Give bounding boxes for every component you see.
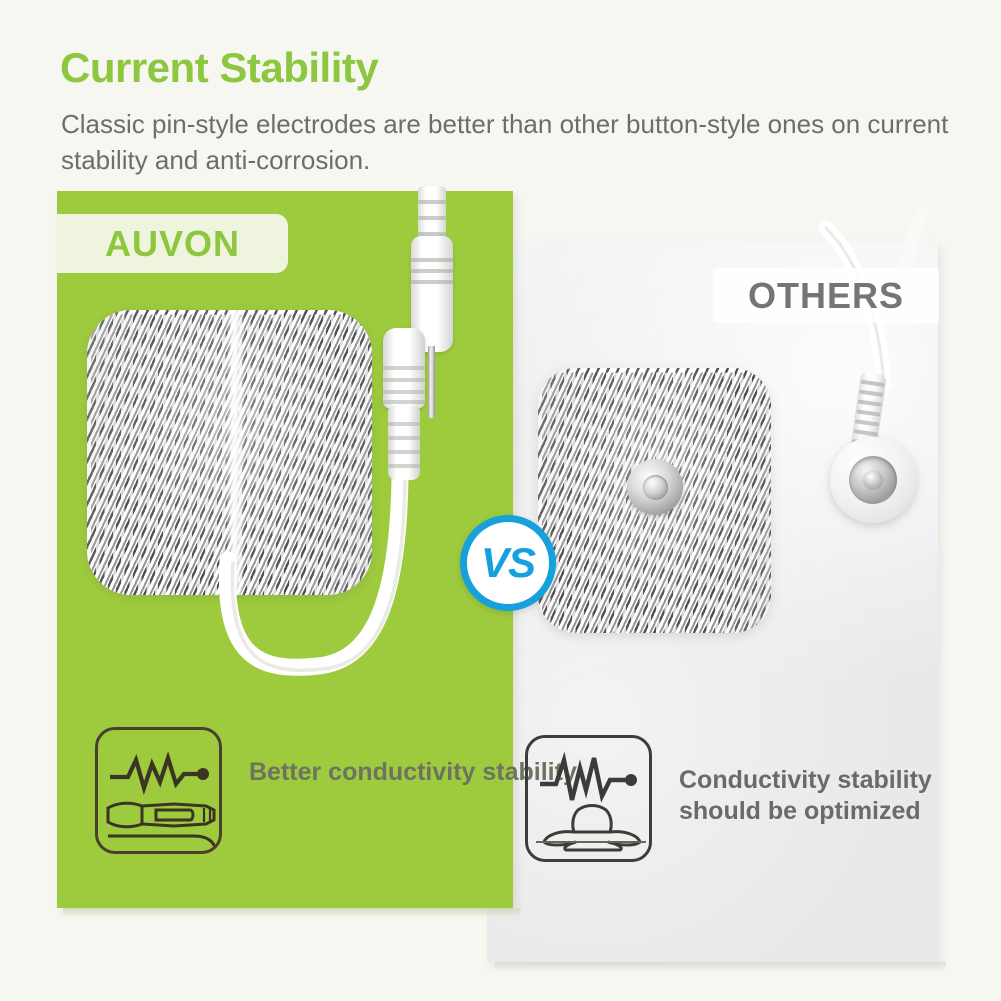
vs-badge: VS: [460, 515, 556, 611]
socket-grip: [388, 406, 420, 480]
others-electrode-pad: [538, 368, 771, 633]
waveform-snap-button-icon: [525, 735, 652, 862]
auvon-brand-text: AUVON: [105, 223, 240, 265]
metal-pin-icon: [428, 346, 435, 418]
others-brand-text: OTHERS: [748, 275, 904, 317]
auvon-socket-connector: [382, 328, 426, 480]
page-subtitle: Classic pin-style electrodes are better …: [61, 106, 951, 178]
page-title: Current Stability: [60, 44, 378, 92]
waveform-pin-connector-icon: [95, 727, 222, 854]
auvon-feature-block: Better conductivity stability: [95, 727, 577, 854]
product-comparison-image: Current Stability Classic pin-style elec…: [0, 0, 1001, 1001]
snap-socket-icon: [830, 437, 916, 523]
others-snap-connector: [822, 375, 914, 535]
auvon-brand-label: AUVON: [57, 214, 288, 273]
pad-shading: [87, 310, 372, 595]
snap-button-icon: [627, 459, 683, 515]
others-brand-label: OTHERS: [713, 268, 939, 323]
others-feature-block: Conductivity stability should be optimiz…: [525, 735, 1001, 862]
socket-head: [383, 328, 425, 408]
auvon-electrode-pad: [87, 310, 372, 595]
vs-label: VS: [481, 539, 535, 587]
others-feature-caption: Conductivity stability should be optimiz…: [679, 735, 1001, 827]
